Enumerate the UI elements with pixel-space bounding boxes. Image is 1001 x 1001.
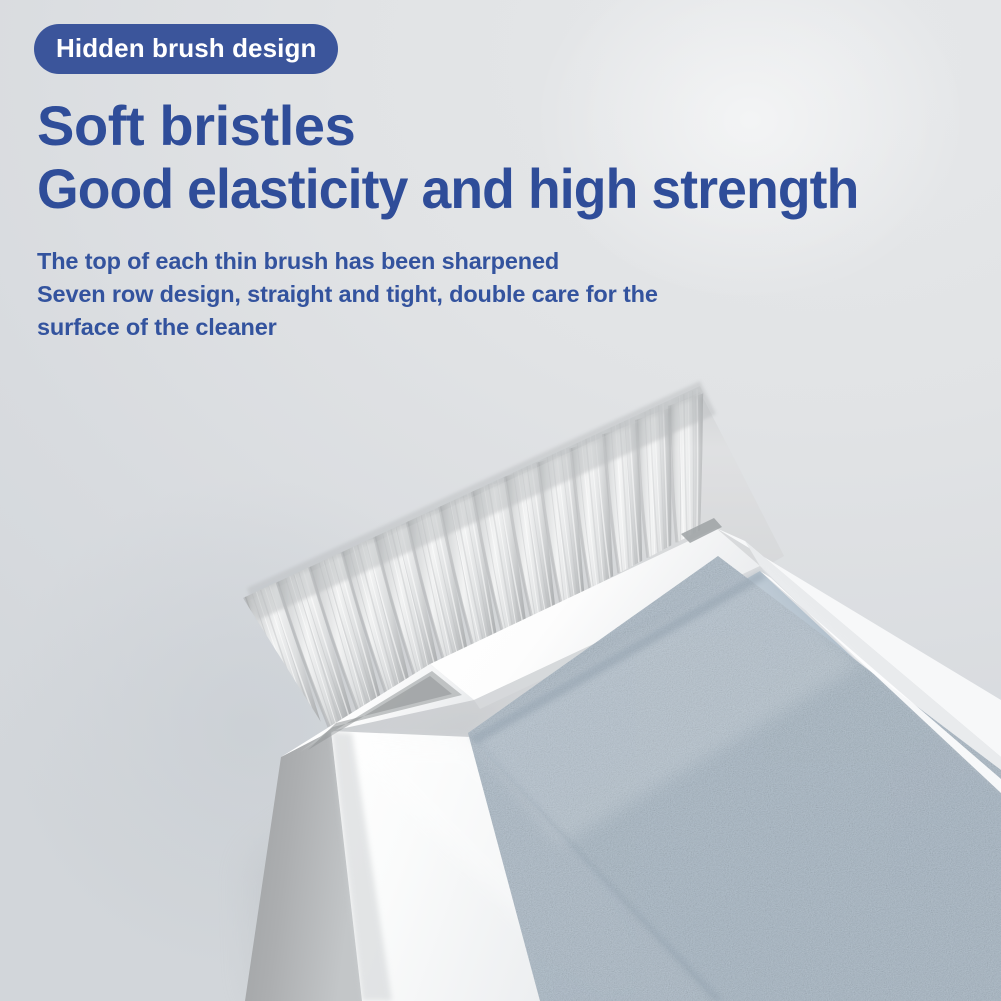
product-marketing-banner: Hidden brush design Soft bristles Good e… [0,0,1001,1001]
copy-block: Hidden brush design Soft bristles Good e… [34,24,984,345]
subcopy-line-2: Seven row design, straight and tight, do… [37,278,984,311]
subcopy-block: The top of each thin brush has been shar… [37,245,984,345]
headline-line-2: Good elasticity and high strength [37,159,941,218]
subcopy-line-3: surface of the cleaner [37,311,984,344]
hidden-brush-design-badge: Hidden brush design [34,24,338,74]
background-glow-left [0,380,601,1001]
headline-line-1: Soft bristles [37,96,984,155]
subcopy-line-1: The top of each thin brush has been shar… [37,245,984,278]
